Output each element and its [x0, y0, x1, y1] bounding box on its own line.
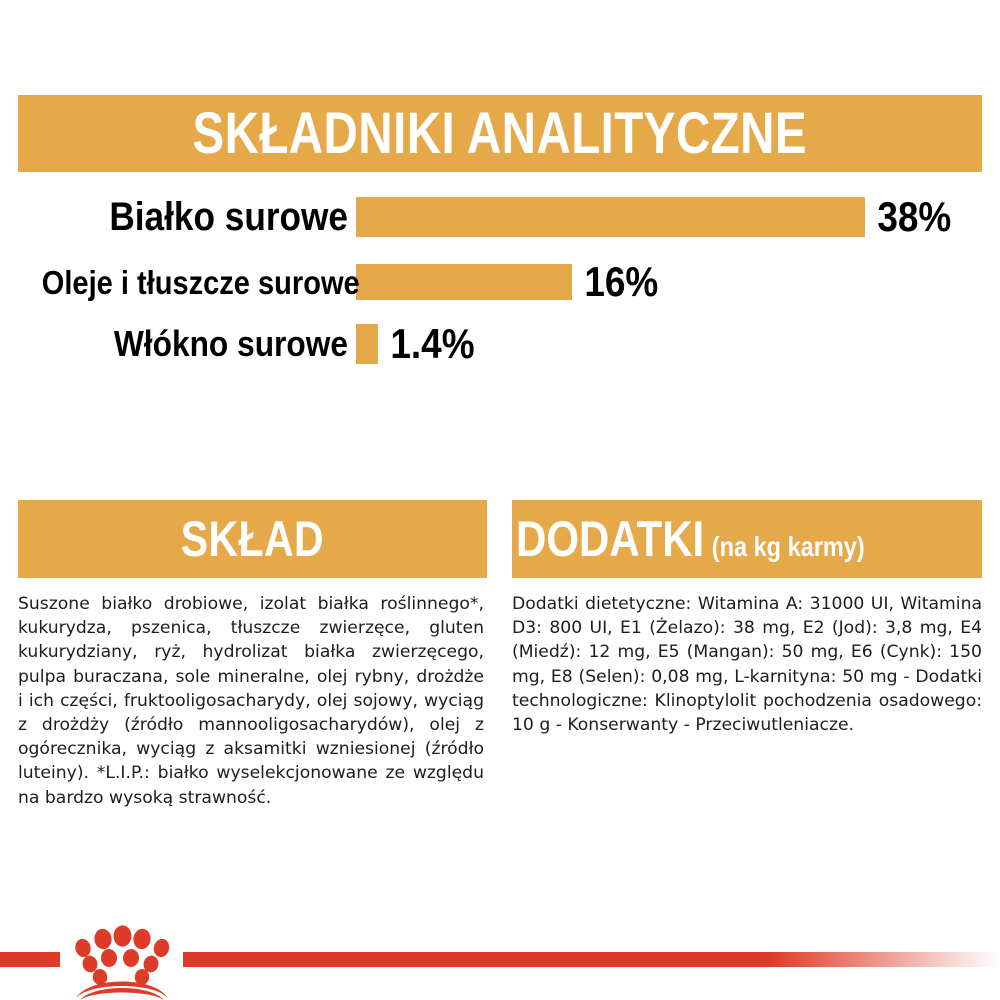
nutrient-bar-fat — [356, 264, 572, 300]
nutrient-row: Oleje i tłuszcze surowe 16% — [0, 261, 1000, 303]
nutrient-row: Białko surowe 38% — [0, 196, 1000, 238]
footer-rule-right — [183, 952, 1000, 967]
composition-title: SKŁAD — [181, 514, 324, 564]
nutrient-value-fibre: 1.4% — [378, 323, 475, 365]
nutrient-bar-chart: Białko surowe 38% Oleje i tłuszcze surow… — [0, 196, 1000, 386]
royal-canin-crown-logo — [62, 924, 182, 1000]
additives-banner: DODATKI (na kg karmy) — [512, 500, 982, 578]
composition-banner: SKŁAD — [18, 500, 487, 578]
nutrient-bar-protein — [356, 197, 865, 237]
nutrient-bar-fibre — [356, 324, 378, 364]
product-info-page: SKŁADNIKI ANALITYCZNE Białko surowe 38% … — [0, 0, 1000, 1000]
footer — [0, 940, 1000, 1000]
additives-title: DODATKI — [516, 514, 704, 564]
nutrient-row: Włókno surowe 1.4% — [0, 323, 1000, 365]
nutrient-label-fibre: Włókno surowe — [42, 326, 348, 362]
analytical-constituents-title: SKŁADNIKI ANALITYCZNE — [193, 105, 808, 163]
nutrient-value-fat: 16% — [572, 261, 658, 303]
additives-body-text: Dodatki dietetyczne: Witamina A: 31000 U… — [512, 592, 982, 737]
additives-title-group: DODATKI (na kg karmy) — [516, 514, 865, 564]
additives-title-unit-note: (na kg karmy) — [704, 533, 865, 561]
nutrient-value-protein: 38% — [865, 196, 951, 238]
analytical-constituents-banner: SKŁADNIKI ANALITYCZNE — [18, 95, 982, 172]
nutrient-label-protein: Białko surowe — [42, 197, 348, 237]
composition-body-text: Suszone białko drobiowe, izolat białka r… — [18, 592, 484, 810]
footer-rule-left — [0, 952, 60, 967]
nutrient-label-fat: Oleje i tłuszcze surowe — [42, 266, 348, 299]
